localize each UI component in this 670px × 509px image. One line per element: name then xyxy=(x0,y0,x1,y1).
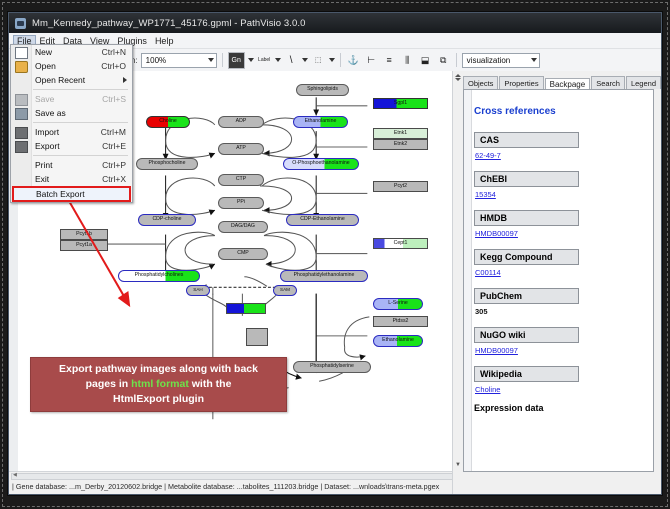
anchor-tool-icon[interactable]: ⚓ xyxy=(346,53,361,68)
cross-references-heading: Cross references xyxy=(474,106,653,117)
xref-value-kegg[interactable]: C00114 xyxy=(475,268,653,277)
save-as-icon xyxy=(15,108,28,120)
align-rows-tool-icon[interactable]: ≡ xyxy=(382,53,397,68)
open-folder-icon xyxy=(15,61,28,73)
xref-value-cas[interactable]: 62-49-7 xyxy=(475,151,653,160)
node-atp[interactable]: ATP xyxy=(218,143,264,155)
menu-item-save-as-label: Save as xyxy=(35,108,126,118)
toolbar-separator xyxy=(222,53,223,67)
menu-item-save-label: Save xyxy=(35,94,102,104)
new-file-icon xyxy=(15,47,28,59)
status-bar: | Gene database: ...m_Derby_20120602.bri… xyxy=(9,471,452,494)
export-icon xyxy=(15,141,28,153)
xref-key-kegg: Kegg Compound xyxy=(474,249,579,265)
menu-item-batch-export-label: Batch Export xyxy=(36,189,129,199)
node-phosphatidylethanolamine[interactable]: Phosphatidylethanolamine xyxy=(280,270,368,282)
gene-ptdss2[interactable]: Ptdss2 xyxy=(373,316,428,327)
node-choline-top[interactable]: Choline xyxy=(146,116,190,128)
node-cmp[interactable]: CMP xyxy=(218,248,268,260)
chevron-down-icon-2 xyxy=(531,58,537,62)
menu-item-open-recent-label: Open Recent xyxy=(35,75,132,85)
shape-dropdown-icon[interactable] xyxy=(329,58,335,62)
backpage-scrollbar[interactable] xyxy=(464,90,472,471)
status-text: | Gene database: ...m_Derby_20120602.bri… xyxy=(12,482,439,491)
group-tool-icon[interactable]: ⧉ xyxy=(436,53,451,68)
menu-item-exit[interactable]: Exit Ctrl+X xyxy=(11,172,132,186)
xref-nugo: NuGO wiki xyxy=(474,325,653,343)
align-left-tool-icon[interactable]: ⊢ xyxy=(364,53,379,68)
node-phosphocholine[interactable]: Phosphocholine xyxy=(136,158,198,170)
gene-pcyt1b[interactable]: Pcyt1b xyxy=(60,229,108,240)
tab-properties[interactable]: Properties xyxy=(499,76,543,89)
menu-item-export-accel: Ctrl+E xyxy=(102,141,132,151)
xref-key-hmdb: HMDB xyxy=(474,210,579,226)
gene-pemt[interactable] xyxy=(226,303,266,314)
node-sah[interactable]: SAH xyxy=(186,285,210,296)
menu-item-save-accel: Ctrl+S xyxy=(102,94,132,104)
xref-key-wikipedia: Wikipedia xyxy=(474,366,579,382)
xref-key-chebi: ChEBI xyxy=(474,171,579,187)
xref-pubchem: PubChem xyxy=(474,286,653,304)
zoom-value: 100% xyxy=(146,56,166,65)
gene-cept1[interactable]: Cept1 xyxy=(373,238,428,249)
menu-item-import-label: Import xyxy=(35,127,101,137)
annotation-callout: Export pathway images along with back pa… xyxy=(30,357,287,412)
menu-item-open-accel: Ctrl+O xyxy=(101,61,132,71)
xref-key-cas: CAS xyxy=(474,132,579,148)
align-columns-tool-icon[interactable]: ⫼ xyxy=(400,53,415,68)
zoom-combo[interactable]: 100% xyxy=(141,53,217,68)
panel-expand-icon[interactable]: ▼ xyxy=(454,462,462,470)
tab-objects[interactable]: Objects xyxy=(463,76,498,89)
pathvisio-icon xyxy=(15,18,26,29)
menu-item-exit-label: Exit xyxy=(35,174,102,184)
annotation-line1: Export pathway images along with back xyxy=(59,363,258,375)
line-dropdown-icon[interactable] xyxy=(302,58,308,62)
xref-value-nugo[interactable]: HMDB00097 xyxy=(475,346,653,355)
gene-product-dropdown-icon[interactable] xyxy=(248,58,254,62)
menu-item-open[interactable]: Open Ctrl+O xyxy=(11,59,132,73)
save-icon xyxy=(15,94,28,106)
visualization-value: visualization xyxy=(467,56,511,65)
menu-item-import[interactable]: Import Ctrl+M xyxy=(11,125,132,139)
xref-chebi: ChEBI xyxy=(474,169,653,187)
import-icon xyxy=(15,127,28,139)
xref-cas: CAS xyxy=(474,130,653,148)
menu-item-exit-accel: Ctrl+X xyxy=(102,174,132,184)
gene-etnk1[interactable]: Etnk1 xyxy=(373,128,428,139)
menu-item-import-accel: Ctrl+M xyxy=(101,127,132,137)
gene-product-tool-icon[interactable]: Gn xyxy=(228,52,245,69)
expression-data-heading: Expression data xyxy=(474,403,653,413)
line-tool-icon[interactable]: \ xyxy=(284,53,299,68)
menu-item-print-label: Print xyxy=(35,160,102,170)
node-phosphatidylcholines[interactable]: Phosphatidylcholines xyxy=(118,270,200,282)
panel-collapse-handle[interactable] xyxy=(455,73,461,99)
node-sam[interactable]: SAM xyxy=(273,285,297,296)
menu-item-print-accel: Ctrl+P xyxy=(102,160,132,170)
menu-item-new-label: New xyxy=(35,47,102,57)
menu-item-new-accel: Ctrl+N xyxy=(102,47,132,57)
node-ctp[interactable]: CTP xyxy=(218,174,264,186)
chevron-down-icon xyxy=(208,58,214,62)
menu-item-export-label: Export xyxy=(35,141,102,151)
tab-legend[interactable]: Legend xyxy=(626,76,661,89)
menu-item-save-as[interactable]: Save as xyxy=(11,106,132,120)
menu-separator-2 xyxy=(33,122,128,123)
shape-tool-icon[interactable]: ⬚ xyxy=(311,53,326,68)
gene-etnk2[interactable]: Etnk2 xyxy=(373,139,428,150)
backpage-content[interactable]: Cross references CAS 62-49-7 ChEBI 15354… xyxy=(463,89,654,472)
node-l-serine[interactable]: L-Serine xyxy=(373,298,423,310)
stack-tool-icon[interactable]: ⬓ xyxy=(418,53,433,68)
node-adp[interactable]: ADP xyxy=(218,116,264,128)
menu-item-print[interactable]: Print Ctrl+P xyxy=(11,158,132,172)
screenshot-root: Mm_Kennedy_pathway_WP1771_45176.gpml - P… xyxy=(0,0,670,509)
node-cdp-choline[interactable]: CDP-choline xyxy=(138,214,196,226)
menu-separator-3 xyxy=(33,155,128,156)
title-bar: Mm_Kennedy_pathway_WP1771_45176.gpml - P… xyxy=(9,13,661,33)
xref-value-hmdb[interactable]: HMDB00097 xyxy=(475,229,653,238)
xref-value-pubchem: 305 xyxy=(475,307,653,316)
annotation-line2-post: with the xyxy=(189,378,232,390)
xref-value-wikipedia[interactable]: Choline xyxy=(475,385,653,394)
xref-key-nugo: NuGO wiki xyxy=(474,327,579,343)
annotation-highlight: html format xyxy=(131,378,189,390)
side-panel: Objects Properties Backpage Search Legen… xyxy=(452,71,661,494)
annotation-line2-pre: pages in xyxy=(86,378,132,390)
gene-pcyt1a[interactable]: Pcyt1a xyxy=(60,240,108,251)
menu-item-export[interactable]: Export Ctrl+E xyxy=(11,139,132,153)
menu-item-new[interactable]: New Ctrl+N xyxy=(11,45,132,59)
gene-box-unlabeled[interactable] xyxy=(246,328,268,346)
node-phosphatidylserine[interactable]: Phosphatidylserine xyxy=(293,361,371,373)
xref-key-pubchem: PubChem xyxy=(474,288,579,304)
menu-item-open-label: Open xyxy=(35,61,101,71)
label-tool-icon[interactable]: Label xyxy=(257,53,272,68)
node-ppi[interactable]: PPi xyxy=(218,197,264,209)
gene-pcyt2[interactable]: Pcyt2 xyxy=(373,181,428,192)
node-dag[interactable]: DAG/DAG xyxy=(218,221,268,233)
node-ethanolamine-top[interactable]: Ethanolamine xyxy=(293,116,348,128)
label-dropdown-icon[interactable] xyxy=(275,58,281,62)
pathvisio-window: Mm_Kennedy_pathway_WP1771_45176.gpml - P… xyxy=(8,12,662,495)
annotation-line3: HtmlExport plugin xyxy=(113,393,204,405)
xref-wikipedia: Wikipedia xyxy=(474,364,653,382)
menu-item-batch-export[interactable]: Batch Export xyxy=(12,186,131,202)
xref-kegg: Kegg Compound xyxy=(474,247,653,265)
node-o-phosphoethanolamine[interactable]: O-Phosphoethanolamine xyxy=(283,158,359,170)
window-title: Mm_Kennedy_pathway_WP1771_45176.gpml - P… xyxy=(32,18,306,29)
toolbar-separator-2 xyxy=(340,53,341,67)
visualization-combo[interactable]: visualization xyxy=(462,53,540,68)
toolbar-separator-3 xyxy=(456,53,457,67)
tab-search[interactable]: Search xyxy=(591,76,625,89)
horizontal-scrollbar[interactable] xyxy=(11,473,455,480)
menu-help[interactable]: Help xyxy=(151,35,178,47)
xref-value-chebi[interactable]: 15354 xyxy=(475,190,653,199)
node-ethanolamine-bottom[interactable]: Ethanolamine xyxy=(373,335,423,347)
side-tab-strip: Objects Properties Backpage Search Legen… xyxy=(453,71,661,89)
xref-hmdb: HMDB xyxy=(474,208,653,226)
gene-sgpl1[interactable]: Sgpl1 xyxy=(373,98,428,109)
file-menu-dropdown: New Ctrl+N Open Ctrl+O Open Recent Save … xyxy=(10,44,133,203)
submenu-arrow-icon xyxy=(123,77,127,83)
node-cdp-ethanolamine[interactable]: CDP-Ethanolamine xyxy=(286,214,359,226)
menu-item-save: Save Ctrl+S xyxy=(11,92,132,106)
menu-item-open-recent[interactable]: Open Recent xyxy=(11,73,132,87)
menu-separator-1 xyxy=(33,89,128,90)
node-sphingolipids[interactable]: Sphingolipids xyxy=(296,84,349,96)
